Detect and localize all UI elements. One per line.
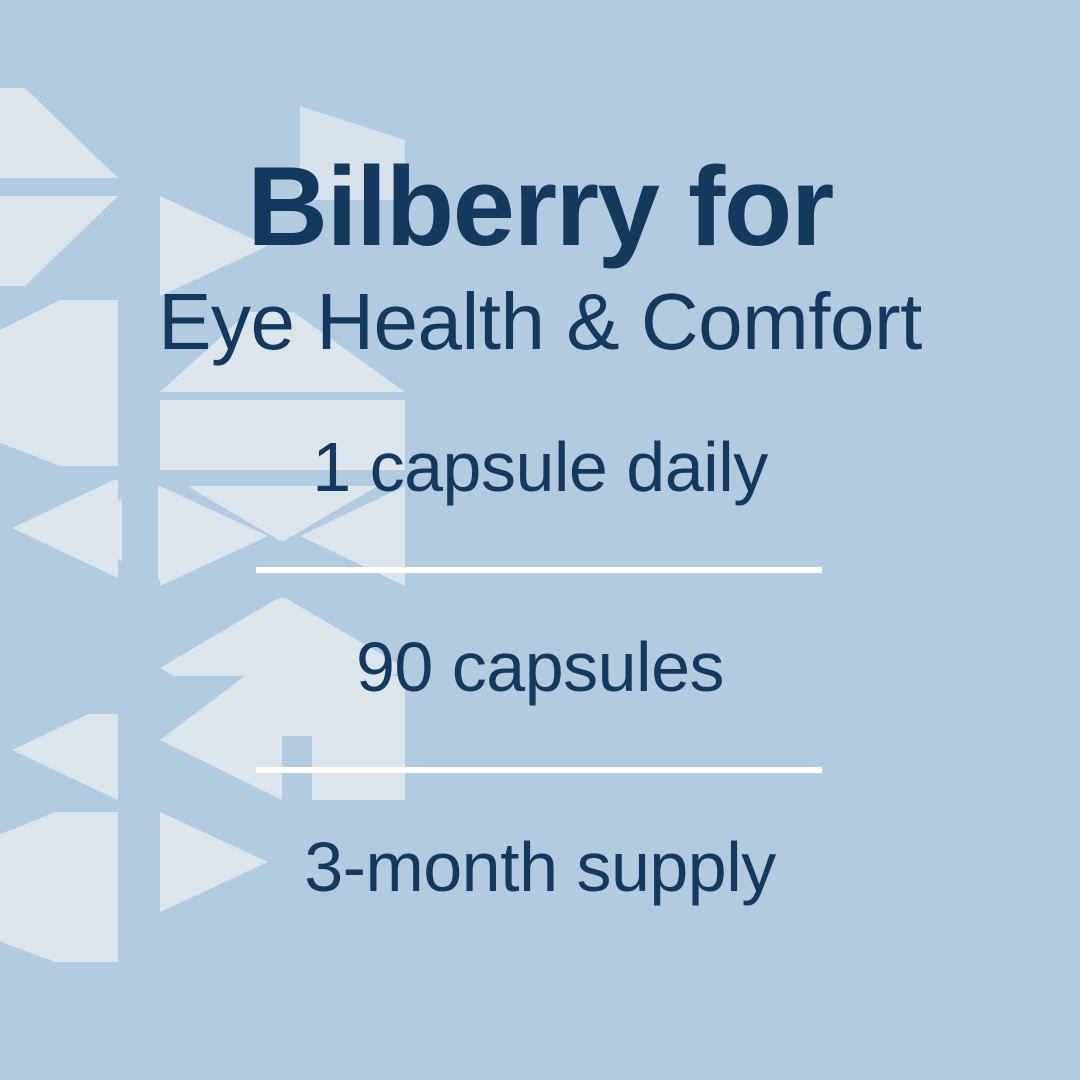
- fact-dosage: 1 capsule daily: [0, 432, 1080, 502]
- divider-2: [256, 767, 822, 773]
- infographic-canvas: Bilberry for Eye Health & Comfort 1 caps…: [0, 0, 1080, 1080]
- fact-supply: 3-month supply: [0, 832, 1080, 902]
- page-subtitle: Eye Health & Comfort: [0, 282, 1080, 362]
- fact-count: 90 capsules: [0, 632, 1080, 702]
- page-title: Bilberry for: [0, 151, 1080, 263]
- divider-1: [256, 567, 822, 573]
